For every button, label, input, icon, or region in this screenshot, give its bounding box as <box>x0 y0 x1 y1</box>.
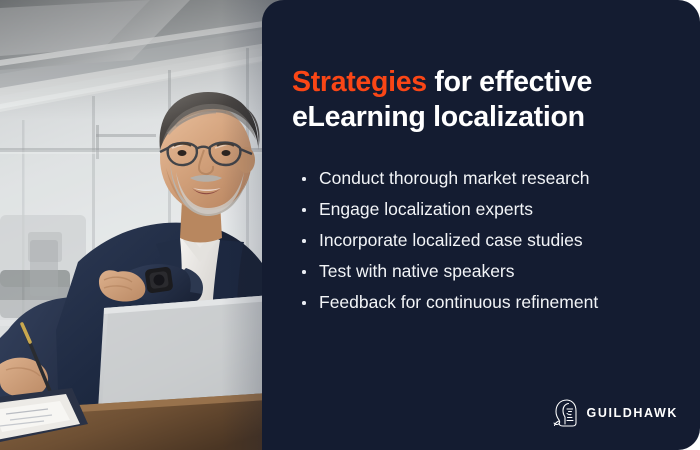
list-item: Engage localization experts <box>300 199 690 220</box>
hero-photo <box>0 0 284 450</box>
list-item: Test with native speakers <box>300 261 690 282</box>
strategy-list: Conduct thorough market research Engage … <box>300 168 690 313</box>
bullet-dot-icon <box>302 239 306 243</box>
list-item-label: Engage localization experts <box>319 199 533 219</box>
list-item: Conduct thorough market research <box>300 168 690 189</box>
brand-logo: GUILDHAWK <box>552 398 678 428</box>
brand-wordmark: GUILDHAWK <box>587 406 678 420</box>
title-rest-line1: for effective <box>427 66 592 98</box>
guildhawk-hawk-head-icon <box>552 398 578 428</box>
marketing-card: Strategies for effectiveeLearning locali… <box>0 0 700 450</box>
list-item: Incorporate localized case studies <box>300 230 690 251</box>
title-line2: eLearning localization <box>292 101 585 133</box>
bullet-dot-icon <box>302 270 306 274</box>
bullet-dot-icon <box>302 301 306 305</box>
list-item-label: Conduct thorough market research <box>319 168 589 188</box>
list-item-label: Feedback for continuous refinement <box>319 292 598 312</box>
list-item: Feedback for continuous refinement <box>300 292 690 313</box>
page-title: Strategies for effectiveeLearning locali… <box>292 65 684 135</box>
list-item-label: Test with native speakers <box>319 261 515 281</box>
bullet-dot-icon <box>302 208 306 212</box>
title-accent-word: Strategies <box>292 66 427 98</box>
bullet-dot-icon <box>302 177 306 181</box>
list-item-label: Incorporate localized case studies <box>319 230 583 250</box>
